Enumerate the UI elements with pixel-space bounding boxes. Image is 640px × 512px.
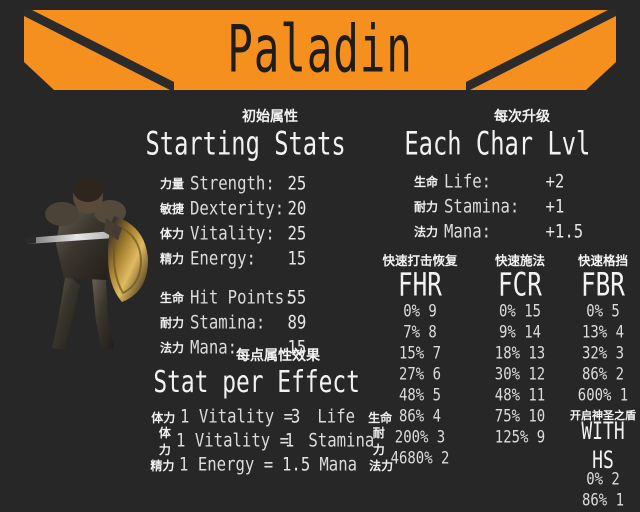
effect-number: 1	[280, 430, 299, 452]
stat-per-effect-cn-title: 每点属性效果	[156, 345, 400, 365]
fhr-item: 0% 9	[372, 300, 469, 323]
effect-expression: 1 Vitality =	[180, 406, 276, 428]
fbr-item: 86% 2	[569, 363, 638, 386]
fbr-item: 600% 1	[569, 384, 638, 407]
effect-unit: Stamina	[301, 430, 367, 452]
lvl-value: +2	[540, 170, 586, 192]
effect-cn-label: 体力	[150, 424, 171, 458]
fbr-breakpoint-column: 快速格挡 FBR 0% 5 13% 4 32% 3 86% 2 600% 1 开…	[566, 250, 640, 511]
with-hs-item: 0% 2	[569, 468, 638, 491]
fhr-item: 4680% 2	[372, 447, 469, 470]
effect-unit: Life	[310, 406, 364, 428]
fcr-item: 48% 11	[475, 384, 564, 407]
starting-stats-section: 初始属性 Starting Stats 力量 Strength: 25 敏捷 D…	[150, 106, 380, 360]
effect-row-vitality-life: 体力 1 Vitality = 3 Life 生命	[150, 405, 400, 429]
effect-expression: 1 Vitality =	[176, 430, 272, 452]
starting-attributes-list: 力量 Strength: 25 敏捷 Dexterity: 20 体力 Vita…	[150, 171, 380, 271]
fhr-item: 15% 7	[372, 342, 469, 365]
fhr-item: 200% 3	[372, 426, 469, 449]
fhr-item: 7% 8	[372, 321, 469, 344]
lvl-row-life: 生命 Life: +2	[404, 169, 634, 194]
stat-label: Strength:	[190, 172, 275, 194]
fbr-item: 13% 4	[569, 321, 638, 344]
stat-row-dexterity: 敏捷 Dexterity: 20	[150, 196, 380, 221]
fhr-title: FHR	[373, 267, 467, 304]
stat-row-vitality: 体力 Vitality: 25	[150, 221, 380, 246]
effect-number: 3	[284, 406, 307, 428]
stat-label: Vitality:	[190, 222, 275, 244]
stat-value: 55	[282, 286, 324, 308]
lvl-cn-label: 法力	[404, 223, 438, 240]
stat-cn-label: 敏捷	[150, 200, 184, 217]
lvl-value: +1	[540, 195, 586, 217]
fbr-title: FBR	[570, 267, 637, 304]
lvl-label: Life:	[444, 170, 532, 192]
fbr-item: 0% 5	[569, 300, 638, 323]
each-char-lvl-list: 生命 Life: +2 耐力 Stamina: +1 法力 Mana: +1.5	[404, 169, 634, 244]
fhr-item: 27% 6	[372, 363, 469, 386]
effect-cn-label: 体力	[150, 409, 175, 426]
effect-row-vitality-stamina: 体力 1 Vitality = 1 Stamina 耐力	[150, 429, 400, 453]
stat-value: 25	[282, 222, 324, 244]
each-char-lvl-title: Each Char Lvl	[390, 126, 605, 163]
stat-label: Hit Points:	[190, 286, 275, 308]
paladin-sprite-svg	[22, 152, 152, 357]
lvl-label: Stamina:	[444, 195, 532, 217]
stat-value: 20	[282, 197, 324, 219]
fhr-breakpoint-column: 快速打击恢复 FHR 0% 9 7% 8 15% 7 27% 6 48% 5 8…	[368, 250, 472, 469]
lvl-cn-label: 耐力	[404, 198, 438, 215]
fcr-item: 9% 14	[475, 321, 564, 344]
effect-expression: 1 Energy =	[179, 454, 273, 476]
fcr-breakpoint-column: 快速施法 FCR 0% 15 9% 14 18% 13 30% 12 48% 1…	[472, 250, 568, 448]
lvl-cn-label: 生命	[404, 173, 438, 190]
stat-label: Dexterity:	[190, 197, 275, 219]
effect-row-energy-mana: 精力 1 Energy = 1.5 Mana 法力	[150, 453, 400, 477]
lvl-row-mana: 法力 Mana: +1.5	[404, 219, 634, 244]
stat-cn-label: 耐力	[150, 314, 184, 331]
stat-label: Stamina:	[190, 311, 275, 333]
starting-stats-cn-title: 初始属性	[160, 106, 380, 126]
lvl-label: Mana:	[444, 220, 532, 242]
each-char-lvl-section: 每次升级 Each Char Lvl 生命 Life: +2 耐力 Stamin…	[404, 106, 634, 244]
stat-per-effect-list: 体力 1 Vitality = 3 Life 生命 体力 1 Vitality …	[150, 405, 400, 477]
fbr-with-holy-shield-group: 开启神圣之盾 WITH HS 0% 2 86% 1	[566, 407, 640, 511]
fcr-item: 18% 13	[475, 342, 564, 365]
fcr-item: 0% 15	[475, 300, 564, 323]
lvl-value: +1.5	[540, 220, 586, 242]
stat-row-hit-points: 生命 Hit Points: 55	[150, 285, 380, 310]
stat-row-energy: 精力 Energy: 15	[150, 246, 380, 271]
with-hs-item: 86% 1	[569, 489, 638, 512]
stat-value: 89	[282, 311, 324, 333]
fcr-title: FCR	[477, 267, 563, 304]
with-hs-title: WITH HS	[570, 416, 637, 474]
stat-cn-label: 精力	[150, 250, 184, 267]
paladin-character-image	[22, 152, 152, 357]
fbr-item: 32% 3	[569, 342, 638, 365]
stat-row-stamina: 耐力 Stamina: 89	[150, 310, 380, 335]
each-char-lvl-cn-title: 每次升级	[410, 106, 634, 126]
stat-row-strength: 力量 Strength: 25	[150, 171, 380, 196]
effect-cn-label: 精力	[150, 457, 174, 474]
lvl-row-stamina: 耐力 Stamina: +1	[404, 194, 634, 219]
fcr-item: 30% 12	[475, 363, 564, 386]
effect-unit: Mana	[312, 454, 364, 476]
stat-per-effect-title: Stat per Effect	[144, 365, 369, 400]
stat-cn-label: 体力	[150, 225, 184, 242]
fcr-item: 75% 10	[475, 405, 564, 428]
header-banner: Paladin	[0, 0, 640, 100]
page-title: Paladin	[58, 0, 583, 100]
fcr-item: 125% 9	[475, 426, 564, 449]
starting-stats-title: Starting Stats	[140, 126, 351, 163]
fhr-item: 48% 5	[372, 384, 469, 407]
stat-cn-label: 生命	[150, 289, 184, 306]
stat-per-effect-section: 每点属性效果 Stat per Effect 体力 1 Vitality = 3…	[150, 345, 400, 477]
stat-label: Energy:	[190, 247, 275, 269]
effect-number: 1.5	[282, 454, 310, 476]
stat-value: 25	[282, 172, 324, 194]
stat-cn-label: 力量	[150, 175, 184, 192]
stat-value: 15	[282, 247, 324, 269]
fhr-item: 86% 4	[372, 405, 469, 428]
